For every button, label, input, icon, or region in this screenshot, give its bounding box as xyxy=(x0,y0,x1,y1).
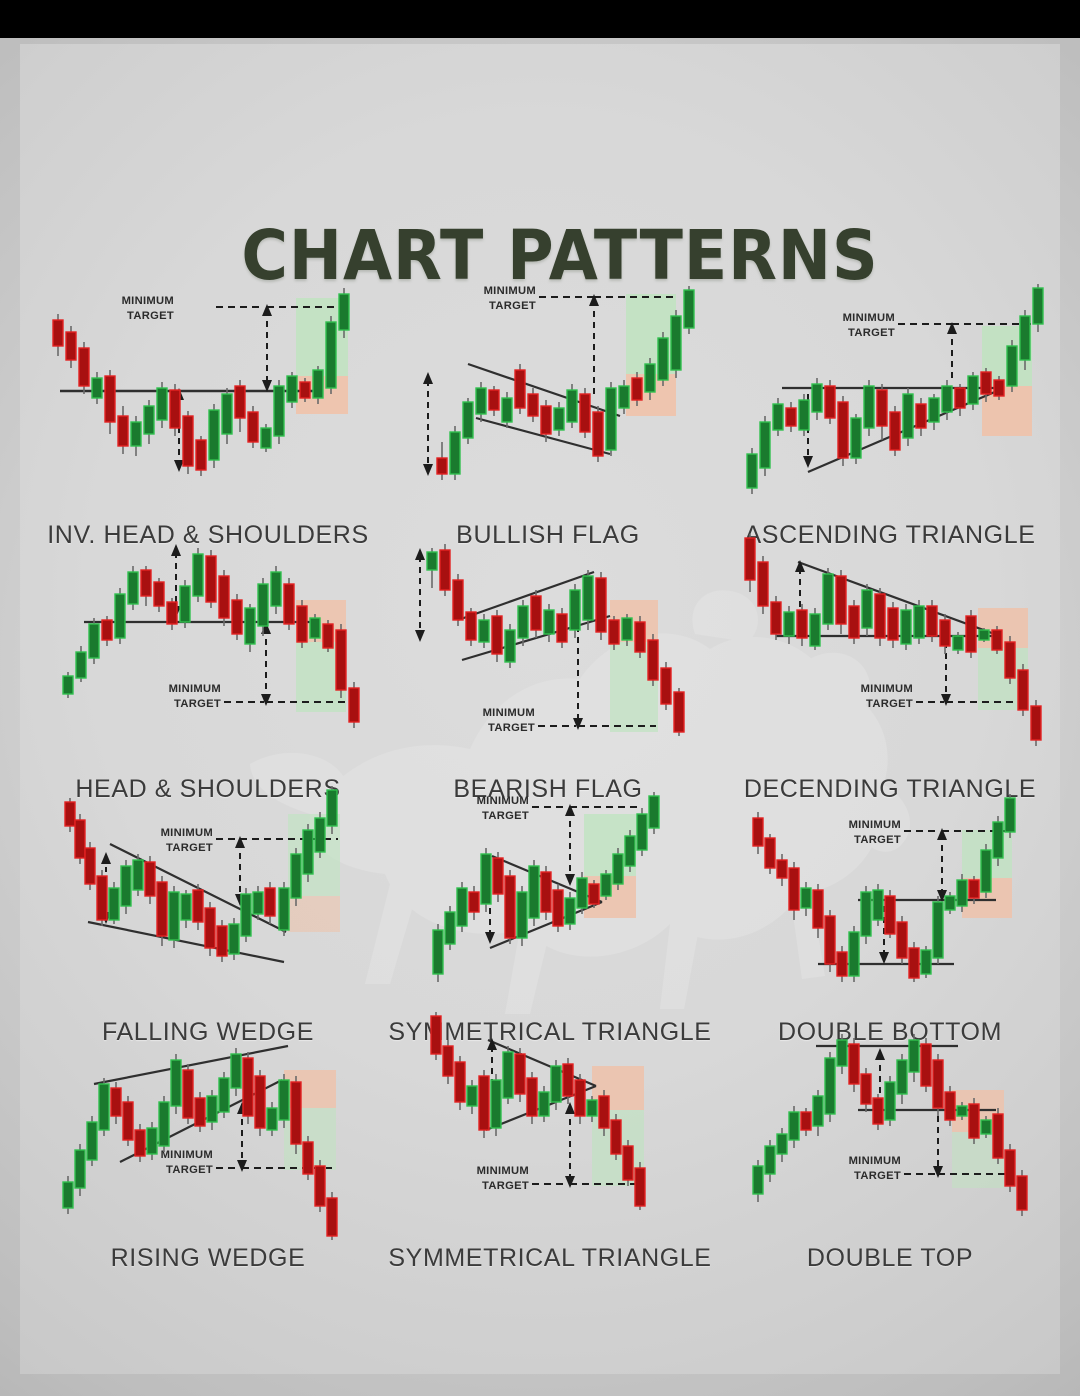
candlestick-chart: MINIMUM TARGET xyxy=(398,530,698,770)
panel-bullish-flag[interactable]: MINIMUM TARGET xyxy=(398,276,698,556)
annotation-line2: TARGET xyxy=(166,1164,213,1176)
panel-label: RISING WEDGE xyxy=(38,1244,378,1273)
annotation-line2: TARGET xyxy=(848,327,895,339)
annotation-line2: TARGET xyxy=(866,698,913,710)
annotation-line1: MINIMUM xyxy=(122,295,174,307)
annotation-line2: TARGET xyxy=(482,1180,529,1192)
panel-decending-triangle[interactable]: MINIMUM TARGET xyxy=(720,530,1060,810)
candle-series xyxy=(753,1034,1027,1216)
candle-series xyxy=(65,786,337,962)
candlestick-chart: MINIMUM TARGET xyxy=(380,1012,720,1242)
panel-double-top[interactable]: MINIMUM TARGET xyxy=(720,1012,1060,1282)
candle-series xyxy=(745,534,1041,746)
annotation-line2: TARGET xyxy=(166,842,213,854)
poster-frame: CHART PATTERNS MINIMUM TARGET xyxy=(0,0,1080,1396)
panel-symmetrical-triangle-bearish[interactable]: MINIMUM TARGET xyxy=(380,1012,720,1282)
candlestick-chart: MINIMUM TARGET xyxy=(720,530,1060,770)
panel-rising-wedge[interactable]: MINIMUM TARGET xyxy=(38,1012,378,1282)
panel-label: DOUBLE TOP xyxy=(720,1244,1060,1273)
panel-label: SYMMETRICAL TRIANGLE xyxy=(380,1244,720,1273)
annotation-line1: MINIMUM xyxy=(849,819,901,831)
panel-inv-head-and-shoulders[interactable]: MINIMUM TARGET xyxy=(38,276,378,556)
annotation-line1: MINIMUM xyxy=(477,795,529,807)
annotation-line2: TARGET xyxy=(488,722,535,734)
candlestick-chart: MINIMUM TARGET xyxy=(38,786,378,1016)
candlestick-chart: MINIMUM TARGET xyxy=(720,786,1060,1016)
candlestick-chart: MINIMUM TARGET xyxy=(720,1012,1060,1242)
annotation-line2: TARGET xyxy=(854,1170,901,1182)
annotation-line1: MINIMUM xyxy=(169,683,221,695)
candle-series xyxy=(63,1048,337,1240)
candlestick-chart: MINIMUM TARGET xyxy=(38,530,378,770)
candlestick-chart: MINIMUM TARGET xyxy=(398,276,698,516)
annotation-line2: TARGET xyxy=(174,698,221,710)
annotation-line1: MINIMUM xyxy=(861,683,913,695)
annotation-line1: MINIMUM xyxy=(843,312,895,324)
letterbox-top xyxy=(0,0,1080,38)
annotation-line2: TARGET xyxy=(854,834,901,846)
annotation-line1: MINIMUM xyxy=(484,285,536,297)
annotation-line1: MINIMUM xyxy=(483,707,535,719)
annotation-line2: TARGET xyxy=(482,810,529,822)
panel-head-and-shoulders[interactable]: MINIMUM TARGET xyxy=(38,530,378,810)
annotation-line2: TARGET xyxy=(127,310,174,322)
annotation-line1: MINIMUM xyxy=(477,1165,529,1177)
candlestick-chart: MINIMUM TARGET xyxy=(38,276,378,516)
panel-bearish-flag[interactable]: MINIMUM TARGET xyxy=(398,530,698,810)
candlestick-chart: MINIMUM TARGET xyxy=(38,1012,378,1242)
candlestick-chart: MINIMUM TARGET xyxy=(380,786,720,1016)
poster-canvas: CHART PATTERNS MINIMUM TARGET xyxy=(20,44,1060,1374)
panel-ascending-triangle[interactable]: MINIMUM TARGET xyxy=(720,276,1060,556)
annotation-line2: TARGET xyxy=(489,300,536,312)
candlestick-chart: MINIMUM TARGET xyxy=(720,276,1060,516)
annotation-line1: MINIMUM xyxy=(849,1155,901,1167)
annotation-line1: MINIMUM xyxy=(161,827,213,839)
annotation-line1: MINIMUM xyxy=(161,1149,213,1161)
